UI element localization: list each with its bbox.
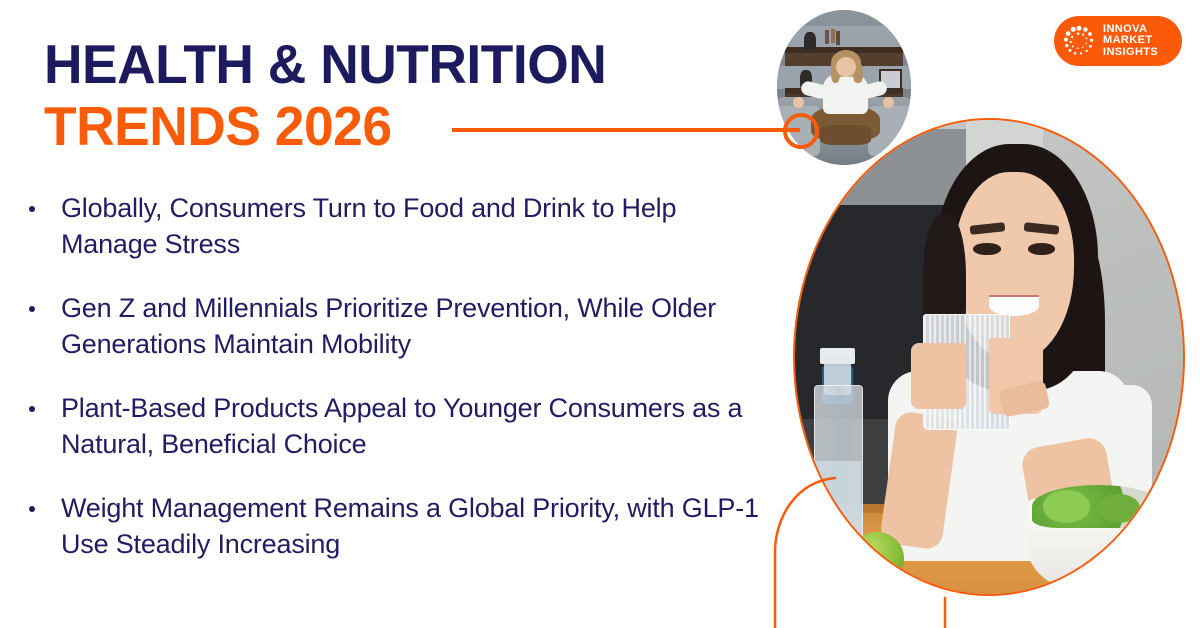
title-line-trends-2026: TRENDS 2026 — [44, 98, 762, 154]
photo-person-eye — [973, 243, 1000, 254]
trend-highlights-list: Globally, Consumers Turn to Food and Dri… — [24, 190, 784, 562]
page-title: HEALTH & NUTRITION TRENDS 2026 — [44, 36, 784, 154]
photo-person-hand — [911, 343, 965, 409]
list-item: Globally, Consumers Turn to Food and Dri… — [24, 190, 784, 262]
poster-canvas: HEALTH & NUTRITION TRENDS 2026 Globally,… — [0, 0, 1200, 628]
orange-curved-accent-icon — [740, 430, 1000, 628]
dotted-ring-logomark-icon — [1062, 24, 1096, 58]
photo-person-hand — [793, 97, 804, 108]
bullet-dot-icon — [29, 306, 35, 312]
list-item-label: Weight Management Remains a Global Prior… — [61, 490, 776, 562]
photo-person-hand — [883, 97, 894, 108]
list-item: Gen Z and Millennials Prioritize Prevent… — [24, 290, 784, 362]
bullet-dot-icon — [29, 506, 35, 512]
photo-book — [831, 29, 835, 43]
photo-shelf-gap — [777, 26, 911, 49]
bullet-dot-icon — [29, 406, 35, 412]
innova-market-insights-logo[interactable]: INNOVA MARKET INSIGHTS — [1054, 16, 1182, 66]
photo-lettuce — [1043, 490, 1090, 523]
orange-circle-marker-icon — [783, 113, 819, 149]
photo-person-eye — [1028, 243, 1055, 254]
logo-wordmark: INNOVA MARKET INSIGHTS — [1103, 24, 1158, 59]
curve-left-path — [775, 478, 835, 628]
list-item-label: Globally, Consumers Turn to Food and Dri… — [61, 190, 776, 262]
photo-book — [825, 30, 829, 44]
list-item: Plant-Based Products Appeal to Younger C… — [24, 390, 784, 462]
photo-book — [836, 31, 840, 45]
title-line-health-nutrition: HEALTH & NUTRITION — [44, 36, 762, 92]
list-item-label: Gen Z and Millennials Prioritize Prevent… — [61, 290, 776, 362]
photo-person-face — [836, 57, 856, 77]
orange-horizontal-rule-icon — [452, 128, 800, 132]
bullet-dot-icon — [29, 206, 35, 212]
list-item: Weight Management Remains a Global Prior… — [24, 490, 784, 562]
photo-lettuce — [1098, 494, 1141, 522]
photo-vase — [804, 32, 816, 51]
logo-line-insights: INSIGHTS — [1103, 47, 1158, 59]
list-item-label: Plant-Based Products Appeal to Younger C… — [61, 390, 776, 462]
